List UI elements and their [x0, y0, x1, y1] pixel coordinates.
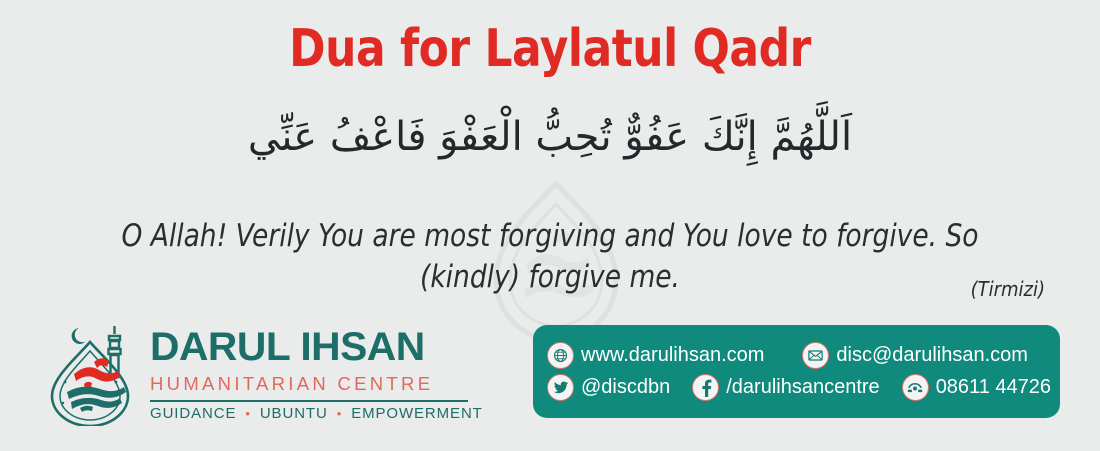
translation-text: O Allah! Verily You are most forgiving a… [102, 216, 999, 298]
facebook-icon [692, 374, 719, 401]
contact-facebook[interactable]: /darulihsancentre [692, 374, 879, 401]
contact-row-2: @discdbn /darulihsancentre [547, 374, 1044, 401]
brand-tagline: GUIDANCE • UBUNTU • EMPOWERMENT [150, 405, 483, 422]
mosque-dome-logo-icon [44, 322, 136, 426]
organisation-logo-block: DARUL IHSAN HUMANITARIAN CENTRE GUIDANCE… [44, 322, 483, 426]
envelope-icon [802, 342, 829, 369]
contact-phone-label: 08611 44726 [936, 377, 1051, 398]
contact-facebook-label: /darulihsancentre [726, 377, 879, 398]
tagline-word-3: EMPOWERMENT [351, 405, 483, 422]
wordmark: DARUL IHSAN HUMANITARIAN CENTRE GUIDANCE… [150, 326, 483, 422]
contact-email[interactable]: disc@darulihsan.com [802, 342, 1028, 369]
page-title: Dua for Laylatul Qadr [33, 22, 1067, 77]
contact-phone[interactable]: 08611 44726 [902, 374, 1051, 401]
contact-panel: www.darulihsan.com disc@darulihsan.com [533, 325, 1060, 418]
twitter-icon [547, 374, 574, 401]
contact-twitter-label: @discdbn [581, 377, 670, 398]
tagline-word-2: UBUNTU [260, 405, 328, 422]
phone-icon [902, 374, 929, 401]
contact-twitter[interactable]: @discdbn [547, 374, 670, 401]
contact-row-1: www.darulihsan.com disc@darulihsan.com [547, 342, 1044, 369]
source-attribution: (Tirmizi) [971, 277, 1045, 301]
brand-name: DARUL IHSAN [150, 328, 489, 367]
tagline-separator-1: • [245, 407, 250, 420]
arabic-dua-text: اَللَّهُمَّ إِنَّكَ عَفُوٌّ تُحِبُّ الْع… [0, 106, 1100, 168]
contact-email-label: disc@darulihsan.com [836, 345, 1028, 366]
globe-icon [547, 342, 574, 369]
brand-subtitle: HUMANITARIAN CENTRE [150, 367, 483, 397]
brand-divider [150, 400, 468, 402]
contact-website[interactable]: www.darulihsan.com [547, 342, 764, 369]
poster-canvas: Dua for Laylatul Qadr اَللَّهُمَّ إِنَّك… [0, 0, 1100, 451]
tagline-separator-2: • [337, 407, 342, 420]
contact-website-label: www.darulihsan.com [581, 345, 764, 366]
tagline-word-1: GUIDANCE [150, 405, 236, 422]
